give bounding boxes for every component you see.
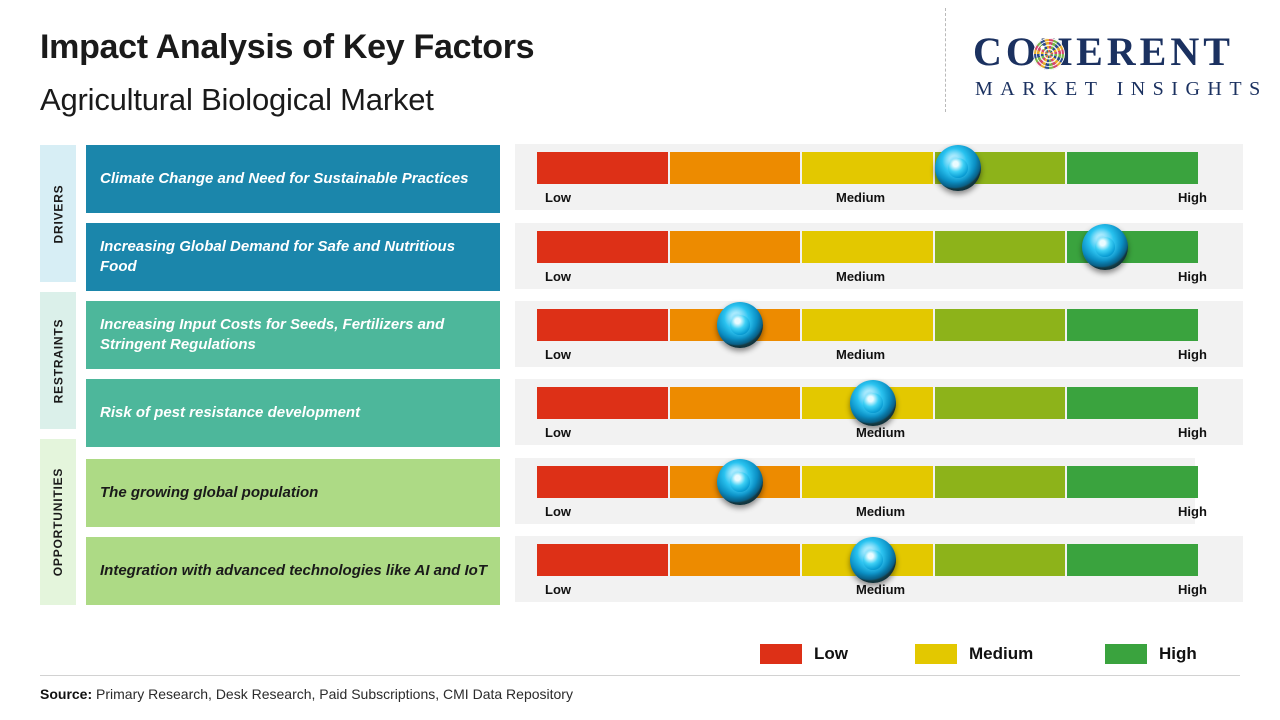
- factor-box: The growing global population: [86, 459, 500, 527]
- gauge-segment-low: [537, 152, 668, 184]
- gauge-segment-low: [537, 387, 668, 419]
- source-note: Source: Primary Research, Desk Research,…: [40, 686, 573, 702]
- gauge-segment-medium: [802, 231, 933, 263]
- gauge-panel: Low Medium High: [515, 536, 1243, 602]
- legend-item-low: Low: [760, 644, 848, 664]
- legend-swatch-medium: [915, 644, 957, 664]
- scale-label-low: Low: [545, 582, 571, 597]
- scale-label-medium: Medium: [856, 582, 905, 597]
- scale-label-low: Low: [545, 425, 571, 440]
- gauge-segment-high: [1067, 466, 1198, 498]
- logo-divider: [945, 8, 946, 112]
- gauge-segment-low-mid: [670, 387, 801, 419]
- gauge-segment-low-mid: [670, 152, 801, 184]
- footer-divider: [40, 675, 1240, 676]
- scale-label-medium: Medium: [856, 425, 905, 440]
- scale-label-medium: Medium: [836, 269, 885, 284]
- gauge-panel: Low Medium High: [515, 223, 1243, 289]
- source-label: Source:: [40, 686, 92, 702]
- gauge-segment-high: [1067, 231, 1198, 263]
- gauge-segment-low: [537, 309, 668, 341]
- gauge-segment-mid-high: [935, 309, 1066, 341]
- factor-text: The growing global population: [100, 483, 328, 503]
- gauge-segment-medium: [802, 544, 933, 576]
- factor-text: Risk of pest resistance development: [100, 403, 370, 423]
- gauge-panel: Low Medium High: [515, 144, 1243, 210]
- factor-box: Increasing Input Costs for Seeds, Fertil…: [86, 301, 500, 369]
- gauge-segment-medium: [802, 466, 933, 498]
- scale-label-high: High: [1178, 582, 1207, 597]
- factor-text: Climate Change and Need for Sustainable …: [100, 169, 478, 189]
- legend-label-medium: Medium: [969, 644, 1033, 664]
- scale-label-low: Low: [545, 269, 571, 284]
- impact-matrix: DRIVERS RESTRAINTS OPPORTUNITIES Climate…: [0, 140, 1280, 610]
- gauge-bar: [537, 387, 1198, 419]
- gauge-segment-mid-high: [935, 152, 1066, 184]
- gauge-segment-mid-high: [935, 231, 1066, 263]
- category-label-opportunities: OPPORTUNITIES: [40, 439, 76, 605]
- category-label-text: DRIVERS: [51, 184, 65, 243]
- gauge-segment-high: [1067, 544, 1198, 576]
- scale-label-low: Low: [545, 347, 571, 362]
- scale-label-medium: Medium: [836, 190, 885, 205]
- scale-label-high: High: [1178, 504, 1207, 519]
- gauge-segment-low-mid: [670, 231, 801, 263]
- gauge-bar: [537, 309, 1198, 341]
- factor-box: Integration with advanced technologies l…: [86, 537, 500, 605]
- logo-wordmark: COHERENT: [973, 28, 1234, 75]
- legend-label-low: Low: [814, 644, 848, 664]
- gauge-panel: Low Medium High: [515, 301, 1243, 367]
- brand-logo: COHERENT MARKET INSIGHTS: [945, 8, 1265, 112]
- gauge-panel: Low Medium High: [515, 379, 1243, 445]
- factor-text: Increasing Input Costs for Seeds, Fertil…: [100, 315, 500, 356]
- category-label-text: OPPORTUNITIES: [51, 468, 65, 576]
- globe-icon: [1033, 38, 1065, 70]
- scale-label-medium: Medium: [836, 347, 885, 362]
- factor-text: Increasing Global Demand for Safe and Nu…: [100, 237, 500, 278]
- gauge-segment-high: [1067, 387, 1198, 419]
- scale-label-high: High: [1178, 347, 1207, 362]
- factor-box: Risk of pest resistance development: [86, 379, 500, 447]
- legend-item-medium: Medium: [915, 644, 1033, 664]
- legend-item-high: High: [1105, 644, 1197, 664]
- gauge-segment-low-mid: [670, 309, 801, 341]
- scale-label-high: High: [1178, 190, 1207, 205]
- scale-label-high: High: [1178, 269, 1207, 284]
- legend-swatch-low: [760, 644, 802, 664]
- gauge-bar: [537, 152, 1198, 184]
- category-label-text: RESTRAINTS: [51, 318, 65, 403]
- gauge-segment-mid-high: [935, 544, 1066, 576]
- page-header: Impact Analysis of Key Factors Agricultu…: [0, 0, 1280, 128]
- gauge-segment-low: [537, 231, 668, 263]
- factor-box: Increasing Global Demand for Safe and Nu…: [86, 223, 500, 291]
- scale-label-medium: Medium: [856, 504, 905, 519]
- gauge-bar: [537, 231, 1198, 263]
- source-text: Primary Research, Desk Research, Paid Su…: [96, 686, 573, 702]
- gauge-segment-low-mid: [670, 466, 801, 498]
- gauge-segment-medium: [802, 152, 933, 184]
- gauge-panel: Low Medium High: [515, 458, 1195, 524]
- gauge-bar: [537, 544, 1198, 576]
- page-subtitle: Agricultural Biological Market: [40, 82, 434, 118]
- gauge-segment-medium: [802, 387, 933, 419]
- factor-text: Integration with advanced technologies l…: [100, 561, 497, 581]
- gauge-segment-high: [1067, 152, 1198, 184]
- category-label-restraints: RESTRAINTS: [40, 292, 76, 429]
- scale-label-low: Low: [545, 190, 571, 205]
- gauge-segment-mid-high: [935, 387, 1066, 419]
- legend-swatch-high: [1105, 644, 1147, 664]
- gauge-segment-low: [537, 544, 668, 576]
- gauge-segment-low: [537, 466, 668, 498]
- logo-tagline: MARKET INSIGHTS: [975, 78, 1268, 101]
- factor-box: Climate Change and Need for Sustainable …: [86, 145, 500, 213]
- page-title: Impact Analysis of Key Factors: [40, 28, 534, 67]
- scale-label-low: Low: [545, 504, 571, 519]
- gauge-bar: [537, 466, 1198, 498]
- gauge-segment-mid-high: [935, 466, 1066, 498]
- gauge-segment-low-mid: [670, 544, 801, 576]
- legend-label-high: High: [1159, 644, 1197, 664]
- gauge-segment-high: [1067, 309, 1198, 341]
- gauge-segment-medium: [802, 309, 933, 341]
- scale-label-high: High: [1178, 425, 1207, 440]
- category-label-drivers: DRIVERS: [40, 145, 76, 282]
